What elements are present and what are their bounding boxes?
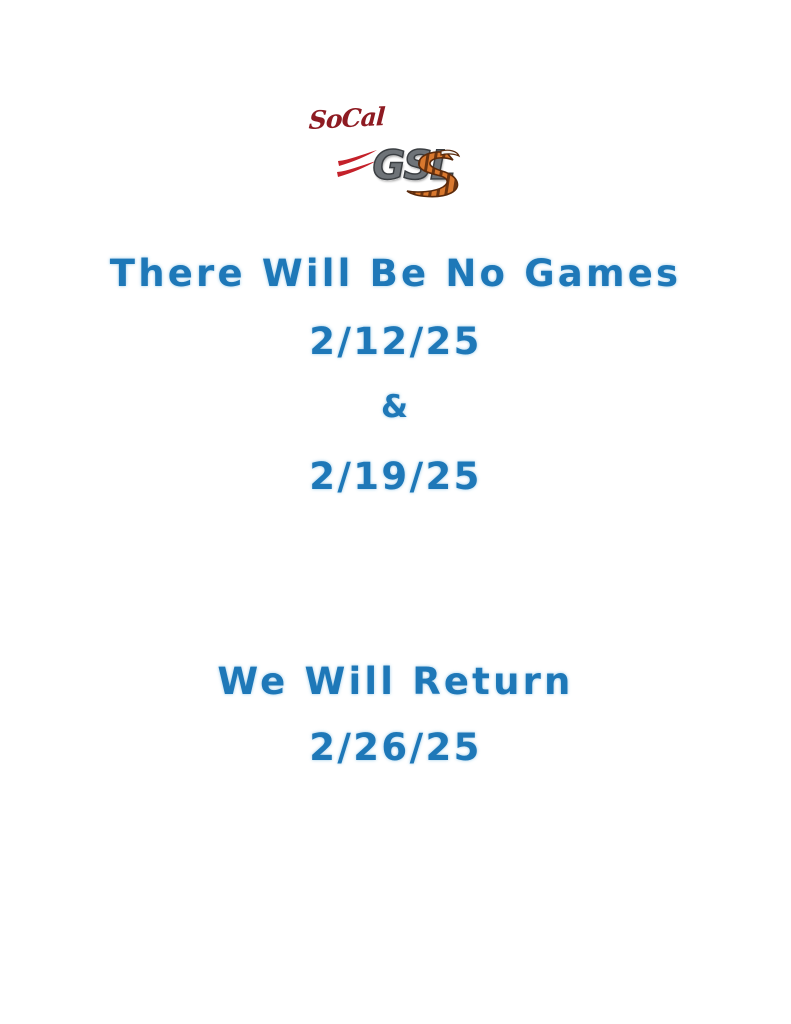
cancelled-date-second: 2/19/25 (0, 455, 791, 498)
no-games-heading: There Will Be No Games (0, 252, 791, 295)
socal-wordmark: SoCal (308, 102, 385, 135)
socal-gsl-logo: SoCal GSL (0, 104, 791, 200)
flyer-page: SoCal GSL (0, 0, 791, 1024)
ampersand-separator: & (0, 389, 791, 425)
tiger-snake-icon (395, 148, 471, 200)
gsl-mark: GSL (373, 144, 491, 200)
logo-inner: SoCal GSL (301, 104, 491, 200)
return-heading: We Will Return (0, 660, 791, 703)
return-date: 2/26/25 (0, 726, 791, 769)
cancelled-date-first: 2/12/25 (0, 320, 791, 363)
